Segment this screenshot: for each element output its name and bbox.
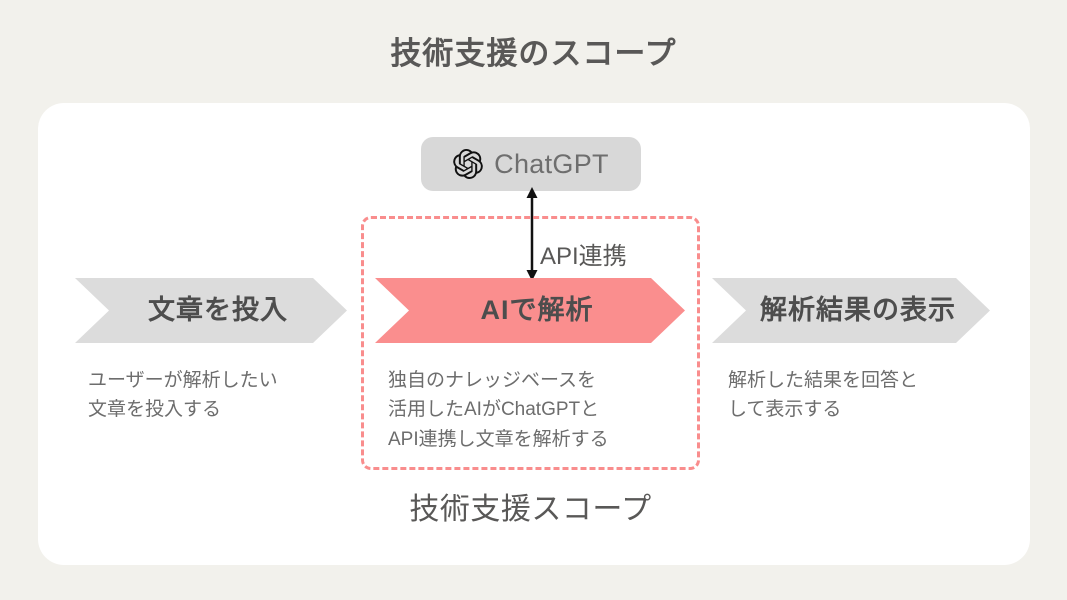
openai-logo-icon [453, 149, 483, 179]
step-description-output: 解析した結果を回答と して表示する [728, 366, 988, 425]
step-chevron-input[interactable]: 文章を投入 [75, 278, 347, 343]
chevron-shape: 解析結果の表示 [712, 278, 990, 343]
step-chevron-analyze[interactable]: AIで解析 [375, 278, 685, 343]
chevron-shape: AIで解析 [375, 278, 685, 343]
step-description-analyze: 独自のナレッジベースを 活用したAIがChatGPTと API連携し文章を解析す… [388, 366, 688, 454]
step-chevron-output[interactable]: 解析結果の表示 [712, 278, 990, 343]
step-label: AIで解析 [467, 297, 594, 324]
scope-caption: 技術支援スコープ [361, 484, 700, 528]
chevron-shape: 文章を投入 [75, 278, 347, 343]
step-label: 文章を投入 [134, 297, 288, 324]
chatgpt-badge: ChatGPT [421, 137, 641, 191]
chatgpt-label: ChatGPT [494, 151, 609, 178]
step-description-input: ユーザーが解析したい 文章を投入する [88, 366, 338, 425]
step-label: 解析結果の表示 [746, 297, 956, 324]
page-title: 技術支援のスコープ [0, 28, 1067, 73]
